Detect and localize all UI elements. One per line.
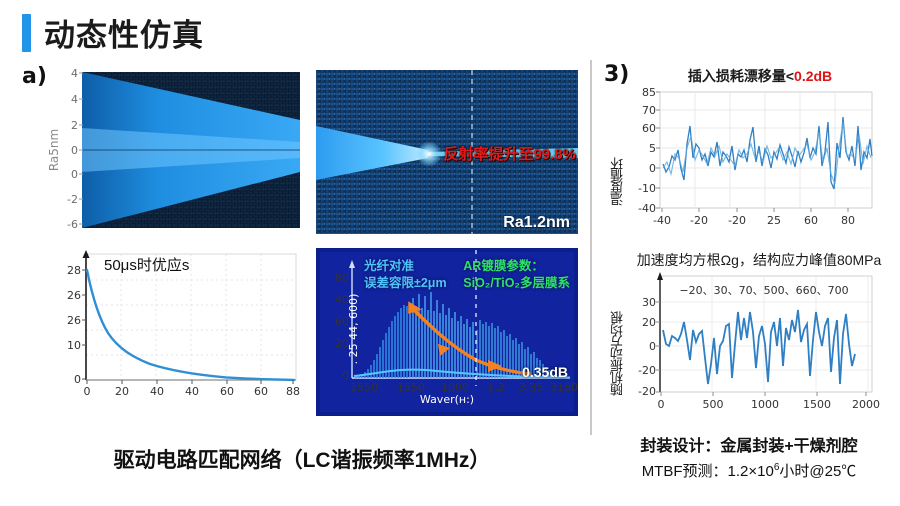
y-tick: -6 <box>67 218 78 231</box>
decay-curve-chart: 28 26 26 10 0 0 <box>46 248 304 416</box>
panel-a-tag: a) <box>22 64 47 89</box>
x-tick: 88 <box>286 385 300 398</box>
loss-value-label: 0.35dB <box>522 364 568 380</box>
y-tick: -2 <box>67 193 78 206</box>
y-tick: 5 <box>649 142 656 155</box>
y-tick: -20 <box>638 364 656 377</box>
y-tick: 28 <box>67 264 81 277</box>
y-tick: 0 <box>649 340 656 353</box>
vibration-svg: 30 20 0 -20 -20 0 5 <box>604 268 890 432</box>
column-divider <box>590 60 592 435</box>
x-tick: 20 <box>115 385 129 398</box>
x-tick: -20 <box>728 214 746 227</box>
x-tick: 0 <box>84 385 91 398</box>
vibration-subtitle: −20、30、70、500、660、700 <box>679 284 848 297</box>
y-tick: 0 <box>342 369 349 382</box>
y-tick: 0 <box>71 144 78 157</box>
package-design-caption: 封装设计：金属封装+干燥剂腔 <box>604 432 894 456</box>
x-tick: 40 <box>150 385 164 398</box>
header-accent-bar <box>22 14 31 52</box>
insertion-loss-title-accent: 0.2dB <box>794 68 832 84</box>
fiber-alignment-line2: 误差容限±2μm <box>364 275 447 292</box>
insertion-loss-svg: 85 70 60 5 0 -10 -40 <box>604 86 890 242</box>
reflectivity-callout: 反射率提升至99.8% <box>443 143 576 164</box>
ar-coating-note: AR镀膜参数： SiO₂/TiO₂多层膜系 <box>463 258 570 292</box>
x-tick: -20 <box>690 214 708 227</box>
decay-chart-title: 50μs时优应s <box>104 256 189 274</box>
mtbf-prefix: MTBF预测：1.2×10 <box>642 463 774 480</box>
y-tick: 85 <box>642 86 656 99</box>
y-tick: 0 <box>71 168 78 181</box>
spectrum-y-axis-label: . 25 44, 600) <box>347 293 360 364</box>
fiber-alignment-line1: 光纤对准 <box>364 258 447 275</box>
afm-beam-left-chart: 4 4 2 0 0 -2 -6 <box>46 68 304 238</box>
y-tick: -10 <box>638 182 656 195</box>
fiber-alignment-note: 光纤对准 误差容限±2μm <box>364 258 447 292</box>
y-tick: 60 <box>642 122 656 135</box>
x-tick: 25 <box>767 214 781 227</box>
y-tick: -20 <box>638 385 656 398</box>
insertion-loss-title-main: 插入损耗漂移量< <box>688 68 794 84</box>
vibration-title: 加速度均方根Ωg，结构应力峰值80MPa <box>604 250 890 270</box>
panel-3: 3) 插入损耗漂移量<0.2dB 温度循环 <box>604 62 890 432</box>
y-tick: 4 <box>71 68 78 80</box>
y-axis-label: Ra5nm <box>47 129 61 171</box>
x-tick: 60 <box>804 214 818 227</box>
x-tick: 0 <box>658 398 665 411</box>
y-tick: 26 <box>67 314 81 327</box>
x-tick: 40 <box>185 385 199 398</box>
x-tick: -40 <box>653 214 671 227</box>
slide-root: 动态性仿真 a) <box>0 0 900 506</box>
decay-curve-svg: 28 26 26 10 0 0 <box>46 248 304 416</box>
left-caption: 驱动电路匹配网络（LC谐振频率1MHz） <box>22 444 582 474</box>
mtbf-caption: MTBF预测：1.2×106小时@25℃ <box>604 460 894 481</box>
x-tick: 500 <box>703 398 724 411</box>
y-tick: 2 <box>71 119 78 132</box>
y-tick: 70 <box>642 104 656 117</box>
x-tick: 1500 <box>803 398 831 411</box>
x-tick: 60 <box>254 385 268 398</box>
afm-beam-right-image: 反射率提升至99.8% Ra1.2nm <box>316 68 578 238</box>
page-title: 动态性仿真 <box>44 10 204 55</box>
vibration-chart: 加速度均方根Ωg，结构应力峰值80MPa 随机振动方均根 <box>604 250 890 432</box>
slide-header: 动态性仿真 <box>22 10 204 55</box>
panel-a: a) <box>22 62 578 432</box>
ar-coating-line2: SiO₂/TiO₂多层膜系 <box>463 275 570 292</box>
spectrum-x-axis-label: Waver(н:) <box>316 393 578 406</box>
mtbf-suffix: 小时@25℃ <box>779 463 856 480</box>
x-tick: 2000 <box>852 398 880 411</box>
y-tick: 30 <box>642 296 656 309</box>
y-tick: 80 <box>335 271 349 284</box>
x-tick: 80 <box>841 214 855 227</box>
y-tick: 20 <box>642 316 656 329</box>
y-tick: 10 <box>67 339 81 352</box>
y-tick: 26 <box>67 289 81 302</box>
afm-beam-left-svg: 4 4 2 0 0 -2 -6 <box>46 68 304 238</box>
ar-coating-line1: AR镀膜参数： <box>463 258 570 275</box>
y-tick: 4 <box>71 93 78 106</box>
y-tick: 0 <box>649 162 656 175</box>
insertion-loss-chart: 插入损耗漂移量<0.2dB 温度循环 <box>604 66 890 242</box>
spectrum-chart: 80 40 60 20 0 1550 1550 1000 1.2 3.35 31… <box>316 248 578 416</box>
x-tick: 60 <box>220 385 234 398</box>
y-tick: 0 <box>74 373 81 386</box>
insertion-loss-title: 插入损耗漂移量<0.2dB <box>604 66 890 86</box>
roughness-callout: Ra1.2nm <box>503 214 570 232</box>
x-tick: 1000 <box>751 398 779 411</box>
